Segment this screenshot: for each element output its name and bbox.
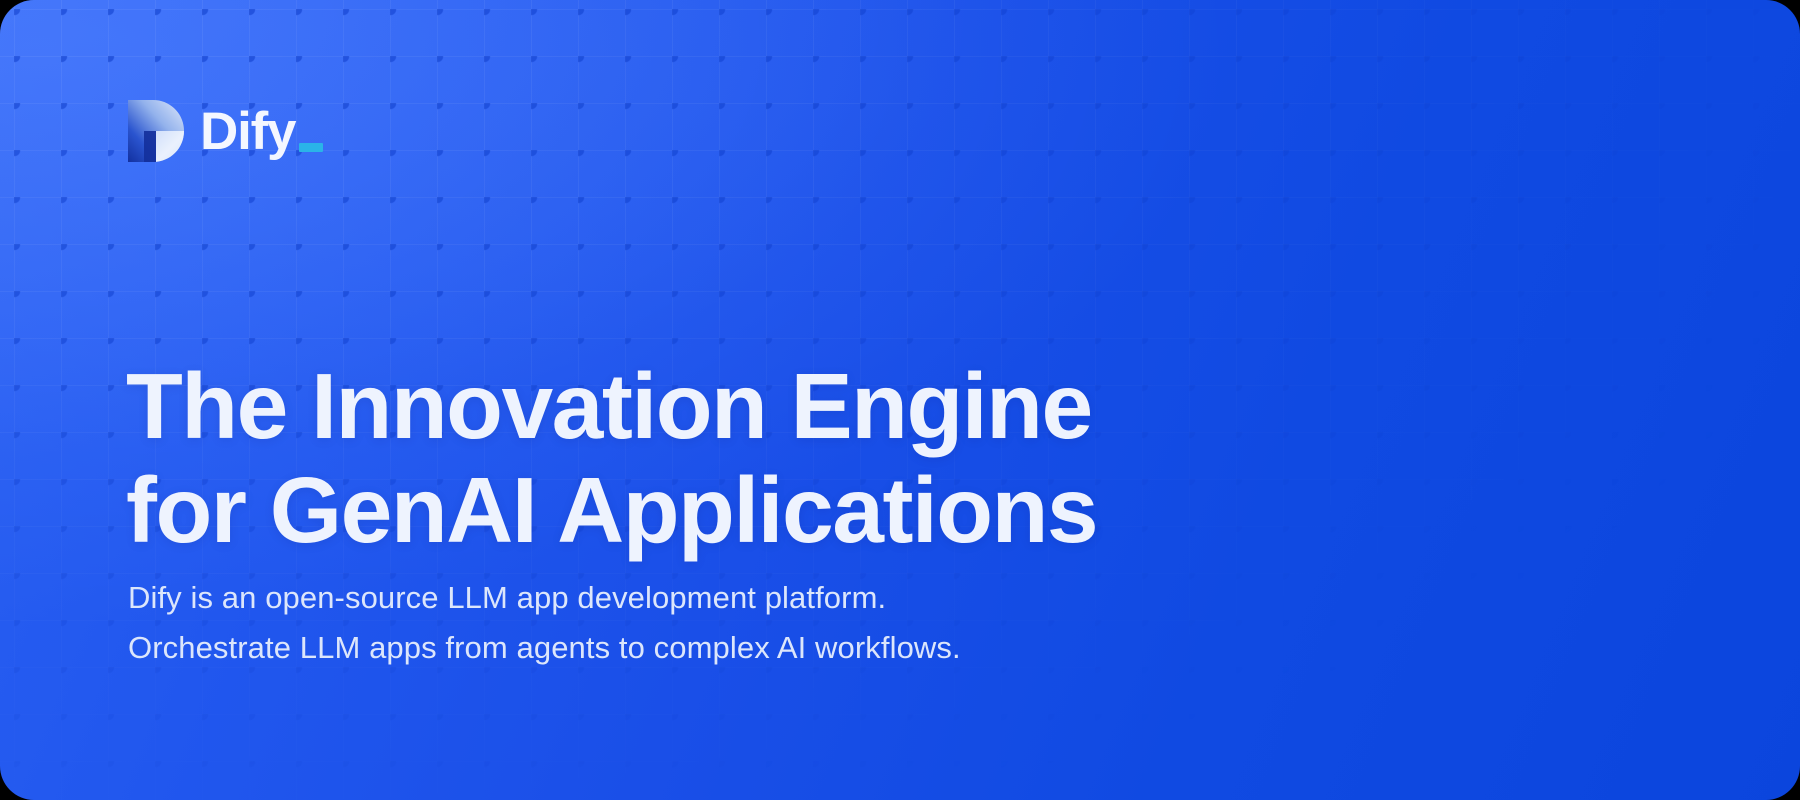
subtitle-line-2: Orchestrate LLM apps from agents to comp… <box>128 623 961 673</box>
subtitle-line-1: Dify is an open-source LLM app developme… <box>128 573 961 623</box>
brand-wordmark-wrap: Dify <box>200 105 323 158</box>
dify-hero-banner: Dify The Innovation Engine for GenAI App… <box>0 0 1800 800</box>
brand-underscore-accent <box>299 143 323 152</box>
page-subtitle: Dify is an open-source LLM app developme… <box>128 573 961 673</box>
brand-wordmark: Dify <box>200 105 295 158</box>
headline-line-1: The Innovation Engine <box>126 354 1097 458</box>
brand-logo[interactable]: Dify <box>128 100 323 162</box>
headline-line-2: for GenAI Applications <box>126 458 1097 562</box>
page-title: The Innovation Engine for GenAI Applicat… <box>126 354 1097 562</box>
dify-d-mark-icon <box>128 100 184 162</box>
